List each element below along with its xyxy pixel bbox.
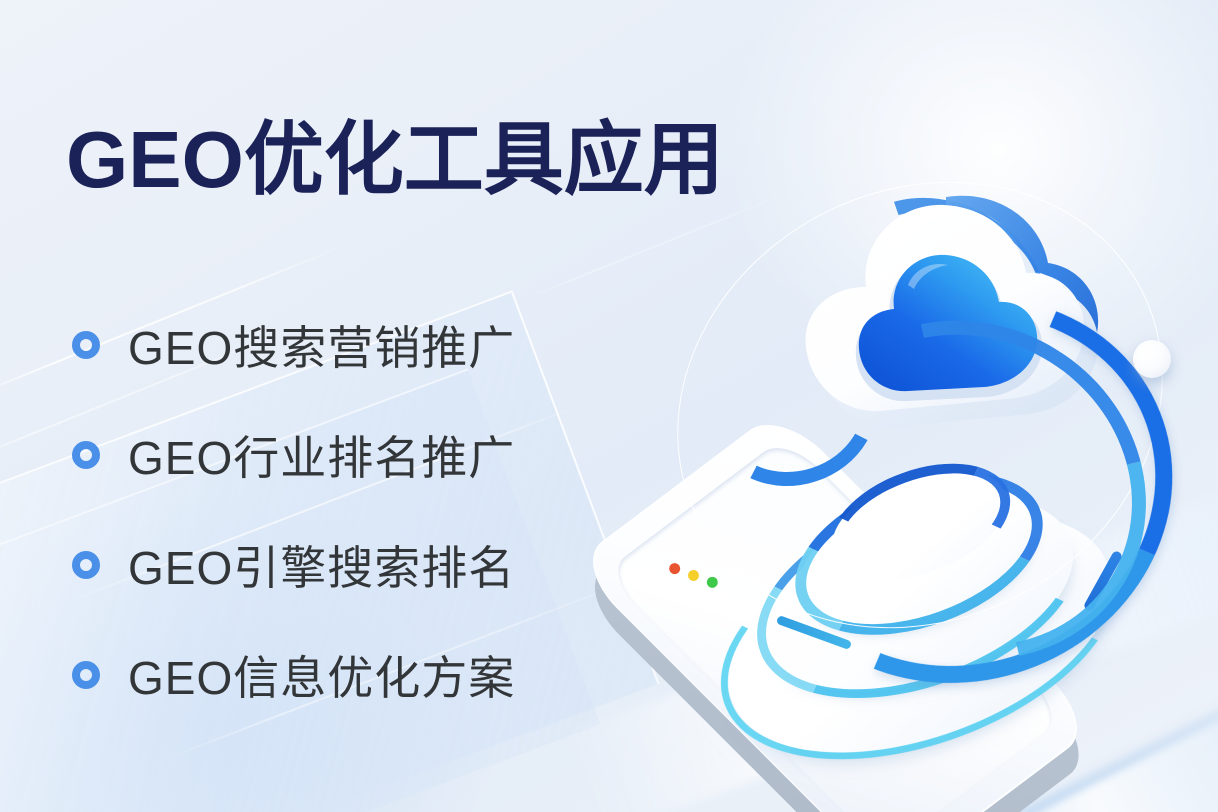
feature-label: GEO信息优化方案: [128, 642, 515, 708]
ring-bullet-icon: [72, 331, 100, 359]
feature-label: GEO引擎搜索排名: [128, 532, 515, 598]
list-item[interactable]: GEO引擎搜索排名: [72, 510, 515, 620]
ring-bullet-icon: [72, 661, 100, 689]
feature-label: GEO行业排名推广: [128, 422, 515, 488]
banner-canvas: GEO优化工具应用 GEO搜索营销推广 GEO行业排名推广 GEO引擎搜索排名 …: [0, 0, 1218, 812]
feature-label: GEO搜索营销推广: [128, 312, 515, 378]
feature-list: GEO搜索营销推广 GEO行业排名推广 GEO引擎搜索排名 GEO信息优化方案: [72, 290, 515, 730]
list-item[interactable]: GEO信息优化方案: [72, 620, 515, 730]
cloud-platform-illustration: [590, 150, 1218, 790]
list-item[interactable]: GEO搜索营销推广: [72, 290, 515, 400]
ring-bullet-icon: [72, 441, 100, 469]
ring-bullet-icon: [72, 551, 100, 579]
orbit-sphere: [1133, 340, 1171, 378]
list-item[interactable]: GEO行业排名推广: [72, 400, 515, 510]
